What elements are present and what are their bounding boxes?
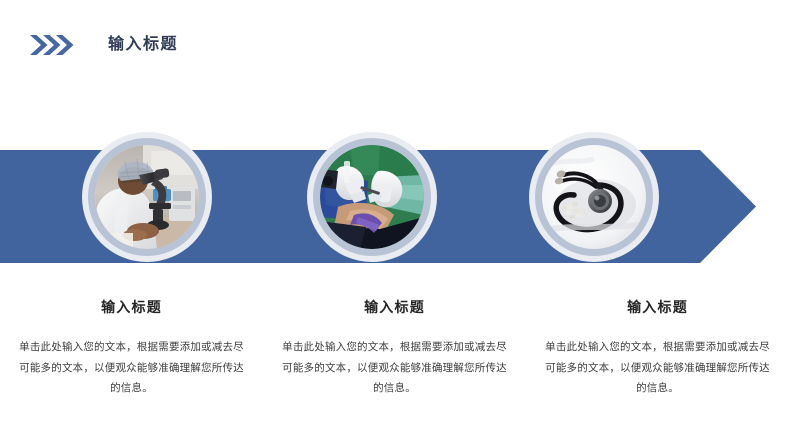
column-title-2: 输入标题 [279, 300, 510, 315]
photo-circle-3[interactable] [542, 145, 646, 249]
text-column-1: 输入标题 单击此处输入您的文本，根据需要添加或减去尽可能多的文本，以便观众能够准… [0, 300, 263, 399]
photo-circle-2[interactable] [320, 145, 424, 249]
column-body-2: 单击此处输入您的文本，根据需要添加或减去尽可能多的文本，以便观众能够准确理解您所… [279, 337, 510, 398]
column-title-1: 输入标题 [16, 300, 247, 315]
text-columns: 输入标题 单击此处输入您的文本，根据需要添加或减去尽可能多的文本，以便观众能够准… [0, 300, 790, 399]
blood-draw-gloves-photo [320, 145, 424, 249]
text-column-2: 输入标题 单击此处输入您的文本，根据需要添加或减去尽可能多的文本，以便观众能够准… [263, 300, 526, 399]
text-column-3: 输入标题 单击此处输入您的文本，根据需要添加或减去尽可能多的文本，以便观众能够准… [526, 300, 789, 399]
stethoscope-pills-photo [542, 145, 646, 249]
slide-header: 输入标题 [28, 28, 178, 62]
photo-circle-1[interactable] [95, 145, 199, 249]
slide-canvas: 输入标题 [0, 0, 790, 444]
page-title: 输入标题 [108, 37, 178, 53]
triple-chevron-right-icon [28, 33, 78, 57]
column-body-3: 单击此处输入您的文本，根据需要添加或减去尽可能多的文本，以便观众能够准确理解您所… [542, 337, 773, 398]
column-title-3: 输入标题 [542, 300, 773, 315]
column-body-1: 单击此处输入您的文本，根据需要添加或减去尽可能多的文本，以便观众能够准确理解您所… [16, 337, 247, 398]
scientist-microscope-photo [95, 145, 199, 249]
